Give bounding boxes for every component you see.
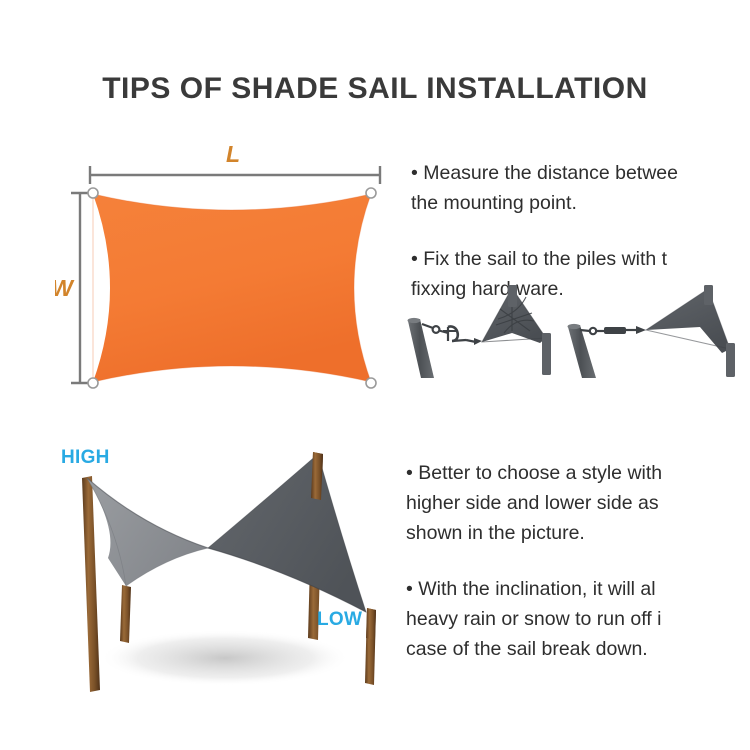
tip-paragraph: • Better to choose a style with higher s… (406, 458, 750, 548)
label-low: LOW (317, 609, 362, 631)
post-right-bottom (726, 343, 735, 377)
tip-line: the mounting point. (411, 188, 750, 218)
high-low-sail-diagram (30, 440, 420, 705)
tip-line: • Fix the sail to the piles with t (411, 244, 750, 274)
tip-paragraph: • With the inclination, it will al heavy… (406, 574, 750, 664)
turnbuckle-body-right (604, 327, 626, 334)
width-label: W (55, 275, 75, 301)
page-title: TIPS OF SHADE SAIL INSTALLATION (0, 72, 750, 106)
tips-text-bottom: • Better to choose a style with higher s… (406, 458, 750, 664)
pole-low-right-tip (366, 608, 376, 640)
tip-line: heavy rain or snow to run off i (406, 604, 750, 634)
post-right-top (704, 285, 713, 305)
length-dimension-line (90, 166, 380, 184)
pole-high-right-tip (311, 452, 323, 500)
tip-line: • Measure the distance betwee (411, 158, 750, 188)
grommet-top-right (366, 188, 376, 198)
rectangular-sail-diagram: L W (55, 140, 405, 400)
turnbuckle-left (422, 324, 476, 342)
tip-line: shown in the picture. (406, 518, 750, 548)
post-left-right (542, 333, 551, 375)
turnbuckle-right (580, 328, 606, 334)
pole-right (568, 324, 597, 378)
sail-shape (93, 194, 371, 382)
poster-canvas: TIPS OF SHADE SAIL INSTALLATION (0, 0, 750, 750)
width-dimension-line (71, 193, 89, 383)
sail-light (87, 478, 208, 586)
shackle-left (474, 338, 482, 345)
tip-line: higher side and lower side as (406, 488, 750, 518)
shackle-right (636, 326, 646, 334)
length-label: L (226, 141, 240, 167)
post-left-top (508, 285, 517, 307)
grommet-bottom-left (88, 378, 98, 388)
sail-dark (208, 454, 366, 612)
sail-corner-right (646, 289, 730, 353)
pole-low-left (120, 585, 131, 643)
grommet-bottom-right (366, 378, 376, 388)
grommet-top-left (88, 188, 98, 198)
hardware-assembly-left (408, 285, 552, 378)
tip-line: case of the sail break down. (406, 634, 750, 664)
label-high: HIGH (61, 447, 110, 469)
tip-paragraph: • Measure the distance betwee the mounti… (411, 158, 750, 218)
fixing-hardware-illustrations (400, 283, 750, 378)
pole-high-left (82, 476, 100, 692)
tip-line: • With the inclination, it will al (406, 574, 750, 604)
tip-line: • Better to choose a style with (406, 458, 750, 488)
hardware-assembly-right (568, 285, 736, 378)
